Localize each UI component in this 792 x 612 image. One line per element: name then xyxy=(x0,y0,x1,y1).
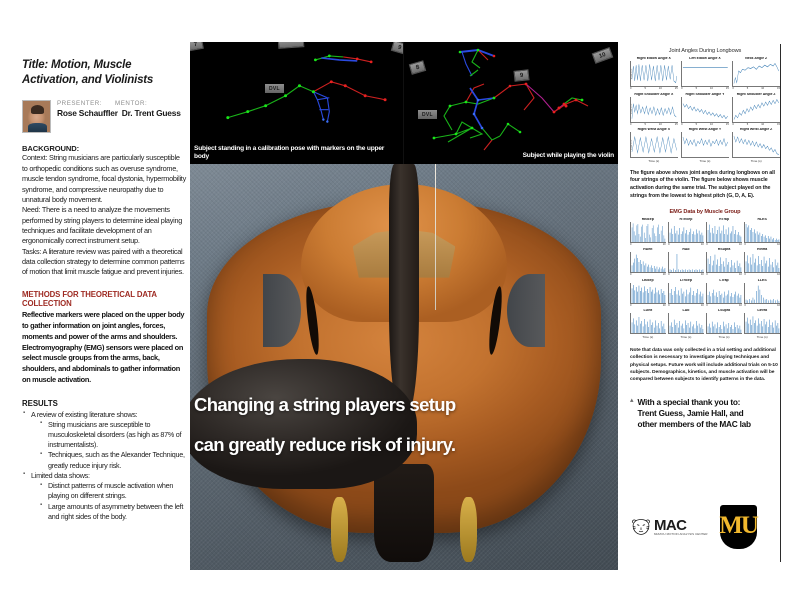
plot-area xyxy=(681,132,729,158)
subplot-title: RDelt xyxy=(630,248,666,252)
mocap-right-caption: Subject while playing the violin xyxy=(408,152,614,160)
center-column: 7 9 DVL xyxy=(190,42,618,570)
tiger-head-icon xyxy=(630,518,652,536)
subplot-title: Right Wrist Angle Z xyxy=(732,128,780,132)
x-axis-label: Time (s) xyxy=(668,335,704,339)
left-column: Title: Motion, Muscle Activation, and Vi… xyxy=(22,58,186,558)
subplot-title: Right Shoulder Angle Z xyxy=(732,93,780,97)
quote-line-2: can greatly reduce risk of injury. xyxy=(194,436,612,455)
violin-fine-tuner-right xyxy=(460,497,477,562)
x-ticks: 051015 xyxy=(681,87,729,90)
title-line-1: Title: Motion, Muscle xyxy=(22,58,186,73)
list-item: A review of existing literature shows: S… xyxy=(22,410,186,471)
violin-fingerboard xyxy=(389,164,419,416)
x-axis-label: Time (s) xyxy=(630,335,666,339)
mocap-skeleton-right xyxy=(404,42,618,164)
subplot-ltrap: LTrap 010 xyxy=(706,279,742,307)
joint-angles-title: Joint Angles During Longbows xyxy=(630,48,780,54)
subplot-neck-z: Neck Angle Z 051015 xyxy=(732,57,780,90)
subplot-ltricep: LTricep 010 xyxy=(668,279,704,307)
subplot-rsupra: RSupra 010 xyxy=(706,248,742,276)
plot-area xyxy=(706,222,742,243)
camera-tag-9b: 9 xyxy=(513,69,529,82)
mentor-name: Dr. Trent Guess xyxy=(122,108,181,118)
x-ticks: 010 xyxy=(668,273,704,276)
x-ticks: 010 xyxy=(744,273,780,276)
right-column: Joint Angles During Longbows Right Elbow… xyxy=(630,48,780,431)
dvl-tag: DVL xyxy=(265,84,284,93)
y-axis-label: Degrees xyxy=(630,139,632,150)
plot-area xyxy=(668,222,704,243)
plot-area xyxy=(706,313,742,334)
x-ticks: 010 xyxy=(630,304,666,307)
emg-subplot-grid: RBicep 010 RTricep 010 RTrap xyxy=(630,218,780,339)
y-axis-label: Degrees xyxy=(630,68,632,79)
joint-angles-figure: Joint Angles During Longbows Right Elbow… xyxy=(630,48,780,163)
x-ticks: 010 xyxy=(668,243,704,246)
subplot-title: RInfra xyxy=(744,248,780,252)
subplot-title: Right Shoulder Angle X xyxy=(630,93,678,97)
note-caption: Note that data was only collected in a t… xyxy=(630,347,780,384)
subplot-title: RBicep xyxy=(630,218,666,222)
ack-line-1: With a special thank you to: xyxy=(638,397,751,408)
subplot-rtricep: RTricep 010 xyxy=(668,218,704,246)
plot-area xyxy=(668,283,704,304)
x-ticks: 010 xyxy=(706,304,742,307)
subplot-title: LTrap xyxy=(706,279,742,283)
mac-word: MAC xyxy=(654,518,708,533)
subplot-title: RTrap xyxy=(706,218,742,222)
subplot-right-wrist-x: Right Wrist Angle X Degrees Time (s) xyxy=(630,128,678,163)
subplot-title: RSupra xyxy=(706,248,742,252)
plot-area xyxy=(630,222,666,243)
x-axis-label: Time (s) xyxy=(706,335,742,339)
methods-body: Reflective markers were placed on the up… xyxy=(22,310,186,385)
subplot-lsupra: LSupra Time (s) xyxy=(706,309,742,339)
subplot-title: RLES xyxy=(744,218,780,222)
results-list: A review of existing literature shows: S… xyxy=(22,410,186,522)
subplot-ldelt: LDelt Time (s) xyxy=(630,309,666,339)
plot-area xyxy=(706,283,742,304)
subplot-rinfra: RInfra 010 xyxy=(744,248,780,276)
subplot-title: RTricep xyxy=(668,218,704,222)
plot-area xyxy=(630,252,666,273)
presenter-name: Rose Schauffler xyxy=(57,108,118,118)
triangle-bullet-icon: ▴ xyxy=(630,397,634,405)
subplot-rbicep: RBicep 010 xyxy=(630,218,666,246)
plot-area xyxy=(732,61,780,87)
ack-line-3: other members of the MAC lab xyxy=(638,419,751,430)
violin-photo: Changing a string players setup can grea… xyxy=(190,164,618,570)
x-ticks: 051015 xyxy=(732,87,780,90)
list-item: Large amounts of asymmetry between the l… xyxy=(39,502,186,522)
plot-area xyxy=(744,313,780,334)
subplot-right-wrist-y: Right Wrist Angle Y Time (s) xyxy=(681,128,729,163)
ack-line-2: Trent Guess, Jamie Hall, and xyxy=(638,408,751,419)
results-heading: RESULTS xyxy=(22,399,186,408)
methods-heading-line-1: METHODS FOR THEORETICAL DATA xyxy=(22,290,186,299)
methods-heading-line-2: COLLECTION xyxy=(22,299,186,308)
logo-row: MAC MIZZOU MOTION ANALYSIS CENTER MU xyxy=(630,505,780,549)
x-ticks: 051015 xyxy=(732,123,780,126)
subplot-lab: LAb Time (s) xyxy=(668,309,704,339)
plot-area: Degrees xyxy=(630,61,678,87)
x-ticks: 051015 xyxy=(630,123,678,126)
mocap-calibration-view: 7 9 DVL xyxy=(190,42,404,164)
mocap-playing-view: 8 9 10 DVL xyxy=(404,42,618,164)
x-ticks: 010 xyxy=(744,243,780,246)
subplot-rtrap: RTrap 010 xyxy=(706,218,742,246)
subplot-right-wrist-z: Right Wrist Angle Z Time (s) xyxy=(732,128,780,163)
x-axis-label: Time (s) xyxy=(630,159,678,163)
subplot-right-shoulder-x: Right Shoulder Angle X Degrees 051015 xyxy=(630,93,678,126)
dvl-tag-right: DVL xyxy=(418,110,437,119)
avatar xyxy=(22,100,51,133)
violin-tailpiece xyxy=(374,464,434,561)
column-divider xyxy=(780,44,781,562)
subplot-title: Right Shoulder Angle Y xyxy=(681,93,729,97)
results-sublist-1: String musicians are susceptible to musc… xyxy=(39,420,186,471)
violin-waist-right xyxy=(507,274,546,347)
x-ticks: 010 xyxy=(630,273,666,276)
subplot-linfra: LInfra Time (s) xyxy=(744,309,780,339)
quote-line-1: Changing a string players setup xyxy=(194,396,612,415)
subplot-title: Left Elbow Angle X xyxy=(681,57,729,61)
credits-block: PRESENTER: MENTOR: Rose Schauffler Dr. T… xyxy=(22,100,186,133)
list-item: Limited data shows: Distinct patterns of… xyxy=(22,471,186,522)
subplot-title: LInfra xyxy=(744,309,780,313)
x-axis-label: Time (s) xyxy=(732,159,780,163)
plot-area: Degrees xyxy=(630,132,678,158)
mu-logo: MU xyxy=(720,505,757,549)
poster-canvas: Title: Motion, Muscle Activation, and Vi… xyxy=(0,0,792,612)
acknowledgment-block: ▴ With a special thank you to: Trent Gue… xyxy=(630,397,780,431)
subplot-rdelt: RDelt 010 xyxy=(630,248,666,276)
plot-area xyxy=(630,283,666,304)
plot-area xyxy=(744,283,780,304)
mocap-figure-row: 7 9 DVL xyxy=(190,42,618,164)
methods-heading: METHODS FOR THEORETICAL DATA COLLECTION xyxy=(22,290,186,309)
plot-area xyxy=(681,97,729,123)
subplot-title: LSupra xyxy=(706,309,742,313)
plot-area: Degrees xyxy=(630,97,678,123)
subplot-right-shoulder-y: Right Shoulder Angle Y 051015 xyxy=(681,93,729,126)
x-ticks: 051015 xyxy=(681,123,729,126)
background-paragraph-3: Tasks: A literature review was paired wi… xyxy=(22,247,186,278)
subplot-right-elbow-x: Right Elbow Angle X Degrees 051015 xyxy=(630,57,678,90)
plot-area xyxy=(744,222,780,243)
subplot-lles: LLES 010 xyxy=(744,279,780,307)
mac-subtitle: MIZZOU MOTION ANALYSIS CENTER xyxy=(654,533,708,536)
plot-area xyxy=(744,252,780,273)
x-ticks: 010 xyxy=(706,243,742,246)
mu-glyph: MU xyxy=(719,516,757,536)
y-axis-label: Degrees xyxy=(630,104,632,115)
page-title: Title: Motion, Muscle Activation, and Vi… xyxy=(22,58,186,87)
x-ticks: 010 xyxy=(668,304,704,307)
x-ticks: 051015 xyxy=(630,87,678,90)
plot-area xyxy=(668,252,704,273)
subplot-lbicep: LBicep 010 xyxy=(630,279,666,307)
joint-angles-subplot-grid: Right Elbow Angle X Degrees 051015 Left … xyxy=(630,57,780,163)
plot-area xyxy=(706,252,742,273)
subplot-title: Right Elbow Angle X xyxy=(630,57,678,61)
plot-area xyxy=(732,132,780,158)
subplot-title: Right Wrist Angle Y xyxy=(681,128,729,132)
x-ticks: 010 xyxy=(630,243,666,246)
x-axis-label: Time (s) xyxy=(744,335,780,339)
subplot-rab: RAb 010 xyxy=(668,248,704,276)
mentor-label: MENTOR: xyxy=(115,100,147,107)
subplot-title: LAb xyxy=(668,309,704,313)
subplot-title: LBicep xyxy=(630,279,666,283)
mac-logo: MAC MIZZOU MOTION ANALYSIS CENTER xyxy=(630,518,708,536)
violin-fine-tuner-left xyxy=(331,497,348,562)
acknowledgment-text: With a special thank you to: Trent Guess… xyxy=(638,397,751,431)
subplot-title: Right Wrist Angle X xyxy=(630,128,678,132)
subplot-title: Neck Angle Z xyxy=(732,57,780,61)
photo-quote: Changing a string players setup can grea… xyxy=(194,396,612,454)
list-item: Distinct patterns of muscle activation w… xyxy=(39,481,186,501)
title-line-2: Activation, and Violinists xyxy=(22,73,186,88)
figure-caption: The figure above shows joint angles duri… xyxy=(630,170,780,201)
list-item: String musicians are susceptible to musc… xyxy=(39,420,186,451)
list-item-label: A review of existing literature shows: xyxy=(31,410,137,419)
plot-area xyxy=(630,313,666,334)
subplot-title: LDelt xyxy=(630,309,666,313)
background-paragraph-1: Context: String musicians are particular… xyxy=(22,153,186,205)
background-paragraph-2: Need: There is a need to analyze the mov… xyxy=(22,205,186,246)
subplot-right-shoulder-z: Right Shoulder Angle Z 051015 xyxy=(732,93,780,126)
mac-wordmark: MAC MIZZOU MOTION ANALYSIS CENTER xyxy=(654,518,708,536)
mocap-left-caption: Subject standing in a calibration pose w… xyxy=(194,145,399,161)
list-item-label: Limited data shows: xyxy=(31,471,90,480)
subplot-rles: RLES 010 xyxy=(744,218,780,246)
subplot-title: RAb xyxy=(668,248,704,252)
emg-title: EMG Data by Muscle Group xyxy=(630,209,780,215)
presenter-label: PRESENTER: xyxy=(57,100,102,107)
x-ticks: 010 xyxy=(706,273,742,276)
credit-names: PRESENTER: MENTOR: Rose Schauffler Dr. T… xyxy=(57,100,186,118)
plot-area xyxy=(681,61,729,87)
subplot-left-elbow-x: Left Elbow Angle X 051015 xyxy=(681,57,729,90)
background-heading: BACKGROUND: xyxy=(22,144,186,153)
plot-area xyxy=(668,313,704,334)
plot-area xyxy=(732,97,780,123)
emg-figure: EMG Data by Muscle Group RBicep 010 RTri… xyxy=(630,209,780,339)
results-sublist-2: Distinct patterns of muscle activation w… xyxy=(39,481,186,522)
subplot-title: LTricep xyxy=(668,279,704,283)
x-axis-label: Time (s) xyxy=(681,159,729,163)
subplot-title: LLES xyxy=(744,279,780,283)
list-item: Techniques, such as the Alexander Techni… xyxy=(39,450,186,470)
x-ticks: 010 xyxy=(744,304,780,307)
